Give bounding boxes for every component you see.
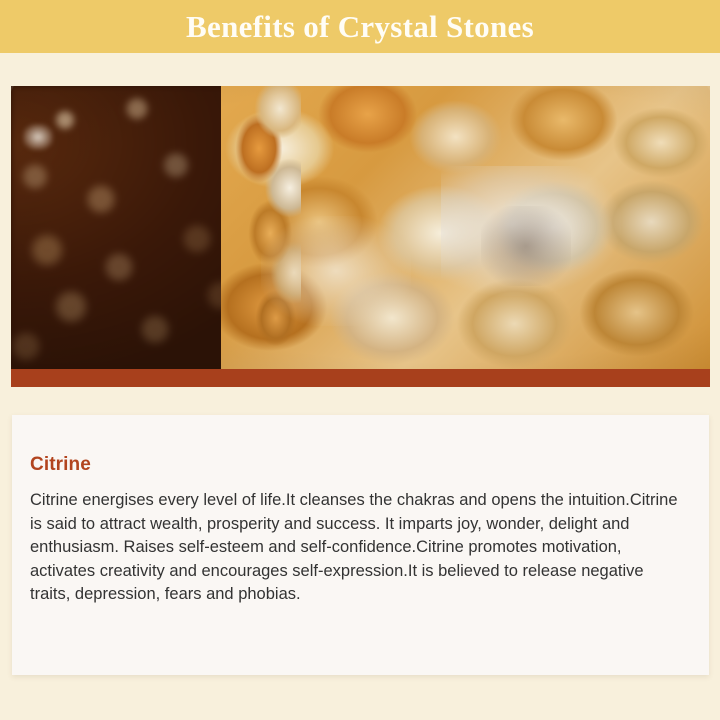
page-title: Benefits of Crystal Stones <box>186 11 534 42</box>
photo-bokeh-highlight <box>23 124 53 150</box>
citrine-crystal-photo <box>11 86 710 369</box>
page-header-band: Benefits of Crystal Stones <box>0 0 720 53</box>
stone-description-text: Citrine energises every level of life.It… <box>30 489 680 607</box>
stone-name-heading: Citrine <box>30 454 91 476</box>
photo-quartz-highlight-center <box>261 216 411 326</box>
hero-footer-band <box>11 369 710 387</box>
photo-inclusion-shadow <box>481 206 571 286</box>
stone-info-card: Citrine Citrine energises every level of… <box>12 415 709 675</box>
hero-image-section <box>11 86 710 387</box>
